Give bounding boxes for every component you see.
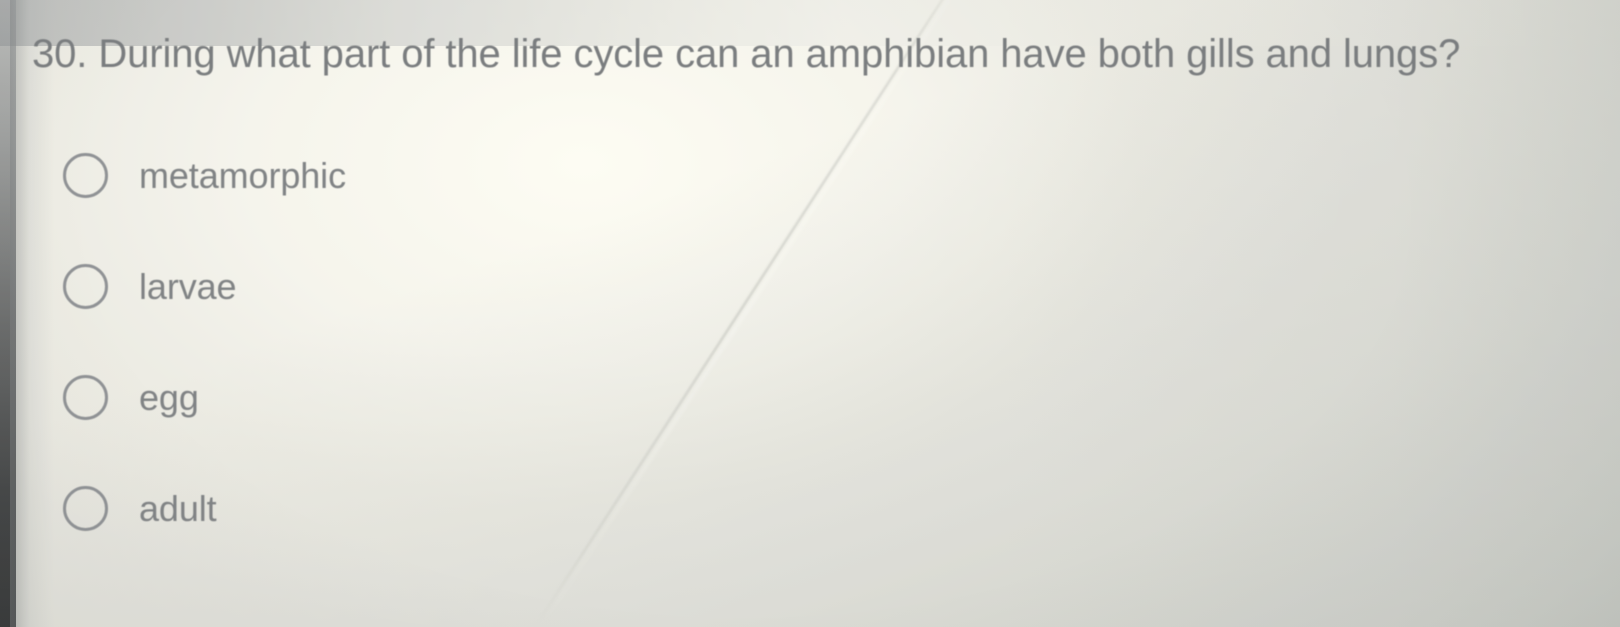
- radio-button-icon[interactable]: [63, 486, 108, 531]
- radio-button-icon[interactable]: [63, 375, 108, 420]
- quiz-question-screen: 30. During what part of the life cycle c…: [0, 0, 1620, 627]
- answer-option-larvae[interactable]: larvae: [0, 231, 1620, 342]
- question-content: 30. During what part of the life cycle c…: [0, 0, 1620, 627]
- radio-button-icon[interactable]: [63, 153, 108, 198]
- answer-option-label: egg: [139, 380, 199, 416]
- radio-button-icon[interactable]: [63, 264, 108, 309]
- answer-option-egg[interactable]: egg: [0, 342, 1620, 453]
- answer-option-label: larvae: [139, 269, 236, 305]
- answer-options-list: metamorphic larvae egg adult: [0, 120, 1620, 564]
- question-text: 30. During what part of the life cycle c…: [32, 32, 1572, 77]
- answer-option-metamorphic[interactable]: metamorphic: [0, 120, 1620, 231]
- answer-option-label: metamorphic: [139, 158, 346, 194]
- answer-option-adult[interactable]: adult: [0, 453, 1620, 564]
- answer-option-label: adult: [139, 491, 217, 527]
